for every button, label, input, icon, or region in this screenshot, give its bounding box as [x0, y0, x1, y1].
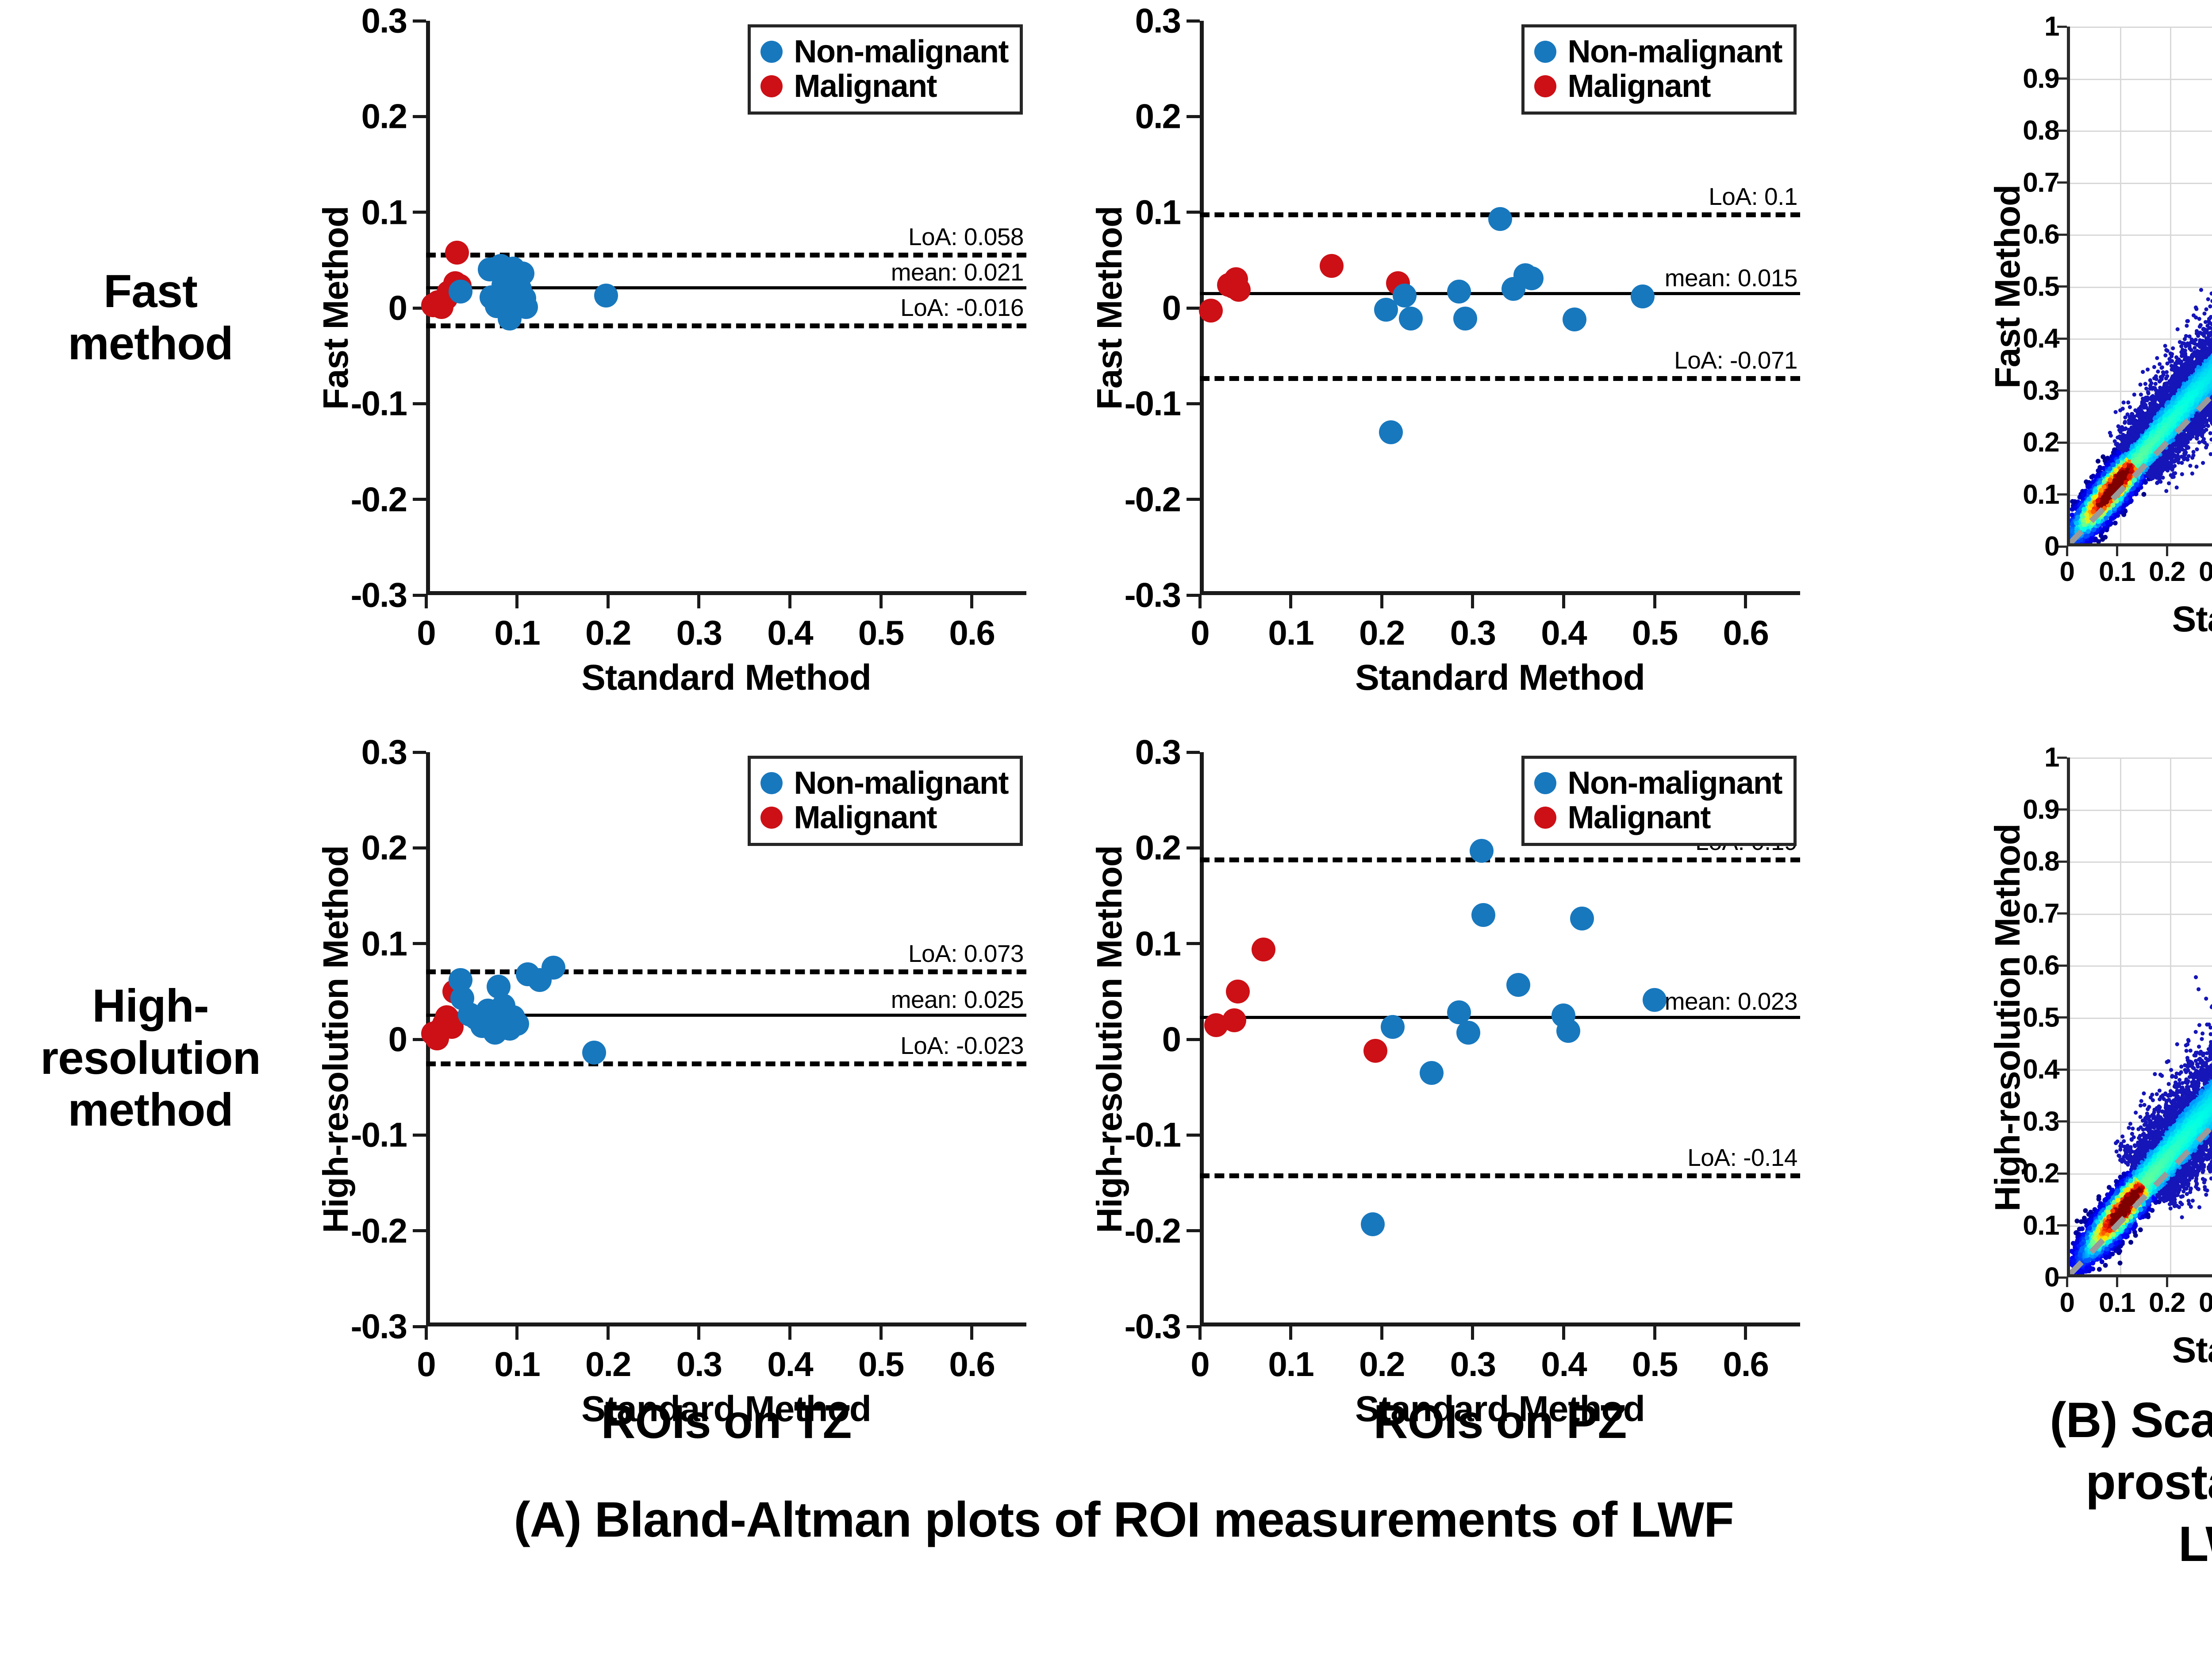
bland-altman-plot-hr-pz: -0.3-0.2-0.100.10.20.300.10.20.30.40.50.…: [1200, 752, 1800, 1326]
y-tick-label: 0.2: [2023, 1158, 2059, 1189]
y-tick: [1187, 751, 1200, 754]
y-axis-title: High-resolution Method: [315, 846, 356, 1233]
loa-lower-annotation: LoA: -0.071: [1674, 346, 1797, 374]
y-tick-label: 1: [2044, 742, 2059, 773]
x-axis-title: Standard Method: [581, 657, 871, 699]
loa-upper-annotation: LoA: 0.058: [908, 223, 1024, 251]
y-tick-label: 0.9: [2023, 63, 2059, 94]
legend-item[interactable]: Malignant: [760, 800, 1008, 835]
legend-label: Non-malignant: [1568, 34, 1782, 70]
x-tick-label: 0: [1190, 1344, 1209, 1384]
y-tick-label: 0: [1162, 288, 1180, 328]
x-tick-label: 0.3: [676, 613, 722, 653]
loa-upper-line: [426, 253, 1026, 258]
y-tick-label: 0.6: [2023, 219, 2059, 250]
x-axis-title: Standard Method: [2172, 599, 2212, 640]
caption-panel-b-line1: (B) Scatter plots of all: [1955, 1389, 2212, 1451]
y-tick: [1187, 498, 1200, 501]
row-label-fast-line1: Fast: [9, 265, 292, 318]
x-tick: [879, 595, 883, 608]
x-tick: [607, 595, 610, 608]
y-tick-label: 1: [2044, 11, 2059, 42]
data-point: [1470, 839, 1494, 863]
y-tick-label: 0.1: [361, 192, 407, 232]
bland-altman-plot-hr-tz: -0.3-0.2-0.100.10.20.300.10.20.30.40.50.…: [426, 752, 1026, 1326]
caption-rois-on-pz: ROIs on PZ: [1200, 1394, 1800, 1449]
data-point: [1556, 1019, 1580, 1043]
x-tick: [788, 595, 791, 608]
y-tick: [1187, 402, 1200, 405]
y-tick-label: 0.3: [1135, 1, 1180, 41]
bland-altman-plot-fast-tz: -0.3-0.2-0.100.10.20.300.10.20.30.40.50.…: [426, 21, 1026, 595]
x-tick: [1471, 595, 1474, 608]
x-tick: [1380, 595, 1383, 608]
row-label-hr-line2: resolution: [9, 1032, 292, 1084]
y-tick-label: -0.2: [1125, 479, 1180, 519]
y-tick-label: -0.2: [351, 1211, 407, 1251]
x-tick: [1653, 595, 1656, 608]
data-point: [1447, 280, 1471, 304]
legend-marker-non_malignant: [760, 772, 783, 794]
y-tick-label: -0.2: [351, 479, 407, 519]
y-tick-label: 0.1: [2023, 479, 2059, 510]
data-point: [511, 261, 534, 285]
y-tick-label: -0.3: [351, 1307, 407, 1347]
y-tick-label: 0.2: [361, 828, 407, 868]
legend-label: Non-malignant: [794, 34, 1008, 70]
legend-label: Non-malignant: [1568, 765, 1782, 801]
x-tick: [515, 595, 518, 608]
data-point: [1506, 973, 1530, 997]
data-point: [582, 1041, 606, 1065]
y-tick-label: 0.1: [1135, 192, 1180, 232]
loa-lower-line: [1200, 376, 1800, 381]
y-tick: [1187, 1134, 1200, 1137]
x-tick: [2166, 1277, 2168, 1287]
x-tick-label: 0.2: [1359, 613, 1404, 653]
data-point: [1488, 207, 1512, 231]
x-tick-label: 0.3: [676, 1344, 722, 1384]
mean-annotation: mean: 0.021: [891, 258, 1024, 286]
x-tick-label: 0.2: [585, 613, 630, 653]
y-tick-label: 0.3: [2023, 375, 2059, 406]
data-point: [1381, 1015, 1405, 1039]
data-point: [449, 280, 472, 304]
row-label-fast-method: Fast method: [9, 265, 292, 369]
x-tick: [425, 595, 428, 608]
x-tick: [1289, 595, 1292, 608]
data-point: [1631, 284, 1655, 308]
legend-marker-non_malignant: [1534, 41, 1556, 63]
y-tick-label: -0.3: [351, 575, 407, 615]
y-tick-label: 0.2: [1135, 96, 1180, 137]
y-tick-label: -0.1: [351, 384, 407, 424]
x-tick: [2166, 546, 2168, 556]
data-point: [1643, 988, 1667, 1012]
y-tick: [1187, 1325, 1200, 1328]
y-tick-label: 0.2: [361, 96, 407, 137]
x-tick: [1562, 1326, 1565, 1340]
data-point: [1361, 1212, 1385, 1236]
data-point: [1363, 1039, 1387, 1063]
loa-upper-annotation: LoA: 0.1: [1709, 182, 1797, 211]
row-label-hr-line3: method: [9, 1084, 292, 1136]
y-tick-label: 0.3: [2023, 1106, 2059, 1137]
x-tick: [515, 1326, 518, 1340]
x-tick: [1744, 595, 1747, 608]
x-tick-label: 0: [2060, 1287, 2074, 1319]
y-tick: [1187, 594, 1200, 597]
y-tick: [413, 1325, 426, 1328]
y-tick-label: -0.3: [1125, 1307, 1180, 1347]
loa-lower-annotation: LoA: -0.14: [1687, 1143, 1797, 1172]
x-tick: [1744, 1326, 1747, 1340]
x-tick: [2066, 546, 2068, 556]
x-tick: [1198, 1326, 1202, 1340]
y-tick-label: 0.4: [2023, 1054, 2059, 1085]
data-point: [505, 1012, 529, 1036]
y-tick-label: 0.1: [2023, 1210, 2059, 1241]
y-tick: [413, 594, 426, 597]
y-tick-label: 0: [2044, 531, 2059, 562]
y-tick-label: 0.8: [2023, 115, 2059, 146]
x-tick: [425, 1326, 428, 1340]
y-tick: [413, 115, 426, 118]
y-axis-title: Fast Method: [315, 206, 356, 410]
y-tick: [1187, 1038, 1200, 1041]
x-tick: [970, 595, 973, 608]
y-tick-label: -0.3: [1125, 575, 1180, 615]
legend-marker-malignant: [760, 807, 783, 829]
y-tick-label: 0.8: [2023, 846, 2059, 877]
caption-panel-b-line2: prostate voxels on: [1955, 1451, 2212, 1513]
legend[interactable]: Non-malignant Malignant: [1521, 756, 1797, 846]
x-axis-title: Standard Method: [1355, 657, 1645, 699]
x-tick-label: 0.6: [949, 613, 994, 653]
x-tick-label: 0.3: [2199, 556, 2212, 588]
y-tick: [1187, 846, 1200, 850]
caption-rois-on-tz: ROIs on TZ: [426, 1394, 1026, 1449]
x-tick-label: 0.1: [494, 613, 539, 653]
loa-lower-annotation: LoA: -0.016: [900, 293, 1024, 322]
data-point: [1227, 278, 1251, 302]
y-tick: [413, 402, 426, 405]
data-point: [514, 295, 538, 319]
caption-panel-a: (A) Bland-Altman plots of ROI measuremen…: [336, 1491, 1911, 1548]
x-tick: [697, 1326, 700, 1340]
x-tick: [2116, 546, 2118, 556]
y-tick: [1187, 307, 1200, 310]
y-tick-label: 0.3: [361, 732, 407, 773]
legend-label: Malignant: [1568, 68, 1711, 104]
y-tick-label: 0.6: [2023, 950, 2059, 981]
x-tick: [1380, 1326, 1383, 1340]
y-tick-label: -0.1: [1125, 1115, 1180, 1155]
x-tick-label: 0.1: [1268, 1344, 1313, 1384]
y-tick-label: 0.5: [2023, 271, 2059, 302]
data-point: [1563, 308, 1586, 331]
legend-marker-malignant: [760, 75, 783, 97]
y-tick-label: 0.3: [1135, 732, 1180, 773]
legend[interactable]: Non-malignant Malignant: [748, 24, 1023, 115]
x-tick: [1198, 595, 1202, 608]
loa-lower-line: [1200, 1173, 1800, 1178]
x-tick-label: 0.1: [494, 1344, 539, 1384]
y-tick: [1187, 19, 1200, 23]
y-tick: [413, 942, 426, 945]
density-cloud: [2070, 27, 2212, 543]
mean-annotation: mean: 0.023: [1665, 987, 1797, 1015]
legend-item[interactable]: Non-malignant: [760, 35, 1008, 69]
x-tick-label: 0.4: [1541, 1344, 1586, 1384]
legend-label: Non-malignant: [794, 765, 1008, 801]
x-tick-label: 0.6: [1723, 613, 1768, 653]
y-tick-label: 0.5: [2023, 1002, 2059, 1033]
x-tick-label: 0.5: [1632, 613, 1677, 653]
x-tick-label: 0.3: [1450, 1344, 1495, 1384]
plot-area: [2067, 27, 2212, 546]
x-tick-label: 0.2: [585, 1344, 630, 1384]
y-tick: [413, 751, 426, 754]
data-point: [1453, 307, 1477, 331]
legend-marker-malignant: [1534, 75, 1556, 97]
data-point: [1252, 938, 1275, 961]
x-tick-label: 0.1: [2099, 1287, 2135, 1319]
y-tick: [413, 1134, 426, 1137]
x-tick-label: 0.6: [949, 1344, 994, 1384]
data-point: [1520, 266, 1544, 290]
mean-line: [1200, 292, 1800, 295]
x-tick-label: 0.1: [2099, 556, 2135, 588]
x-tick-label: 0.3: [2199, 1287, 2212, 1319]
legend[interactable]: Non-malignant Malignant: [1521, 24, 1797, 115]
data-point: [1420, 1061, 1444, 1085]
y-tick-label: 0: [388, 288, 407, 328]
y-axis-title: High-resolution Method: [1987, 824, 2028, 1211]
y-tick-label: 0: [388, 1019, 407, 1060]
loa-lower-line: [426, 1061, 1026, 1066]
y-axis-title: High-resolution Method: [1089, 846, 1130, 1233]
y-tick-label: 0.2: [1135, 828, 1180, 868]
x-tick: [1289, 1326, 1292, 1340]
density-scatter-plot-high-resolution: 00.10.20.30.40.50.60.70.80.9100.10.20.30…: [2067, 757, 2212, 1277]
x-tick-label: 0.3: [1450, 613, 1495, 653]
y-tick-label: -0.2: [1125, 1211, 1180, 1251]
x-tick: [607, 1326, 610, 1340]
data-point: [1226, 980, 1250, 1003]
data-point: [1320, 254, 1344, 278]
x-tick: [788, 1326, 791, 1340]
row-label-fast-line2: method: [9, 318, 292, 370]
legend-item[interactable]: Non-malignant: [1534, 766, 1782, 800]
y-tick: [413, 19, 426, 23]
x-tick: [2066, 1277, 2068, 1287]
plot-area: [2067, 757, 2212, 1277]
y-tick-label: 0: [2044, 1262, 2059, 1293]
y-tick-label: -0.1: [1125, 384, 1180, 424]
legend-marker-non_malignant: [1534, 772, 1556, 794]
y-tick: [1187, 115, 1200, 118]
density-cloud: [2070, 757, 2212, 1274]
y-tick-label: 0.1: [361, 923, 407, 964]
x-tick-label: 0.4: [1541, 613, 1586, 653]
bland-altman-plot-fast-pz: -0.3-0.2-0.100.10.20.300.10.20.30.40.50.…: [1200, 21, 1800, 595]
y-tick-label: -0.1: [351, 1115, 407, 1155]
x-tick-label: 0.4: [767, 613, 812, 653]
y-tick-label: 0: [1162, 1019, 1180, 1060]
loa-lower-annotation: LoA: -0.023: [900, 1031, 1024, 1060]
y-tick: [413, 498, 426, 501]
data-point: [1393, 284, 1417, 308]
row-label-high-resolution-method: High- resolution method: [9, 980, 292, 1136]
legend-label: Malignant: [794, 68, 937, 104]
legend[interactable]: Non-malignant Malignant: [748, 756, 1023, 846]
x-tick-label: 0.2: [1359, 1344, 1404, 1384]
mean-line: [1200, 1016, 1800, 1019]
caption-panel-b: (B) Scatter plots of all prostate voxels…: [1955, 1389, 2212, 1575]
y-tick: [1187, 942, 1200, 945]
legend-label: Malignant: [794, 800, 937, 836]
legend-label: Malignant: [1568, 800, 1711, 836]
legend-item[interactable]: Malignant: [1534, 69, 1782, 104]
y-tick-label: 0.7: [2023, 167, 2059, 198]
x-tick: [1471, 1326, 1474, 1340]
x-tick-label: 0: [1190, 613, 1209, 653]
y-tick-label: 0.2: [2023, 427, 2059, 458]
x-tick-label: 0.4: [767, 1344, 812, 1384]
y-axis-title: Fast Method: [1987, 185, 2028, 388]
mean-annotation: mean: 0.015: [1665, 264, 1797, 292]
y-tick: [413, 211, 426, 214]
x-tick-label: 0.2: [2149, 1287, 2185, 1319]
mean-annotation: mean: 0.025: [891, 985, 1024, 1014]
x-tick-label: 0: [417, 1344, 435, 1384]
x-tick-label: 0: [417, 613, 435, 653]
row-label-hr-line1: High-: [9, 980, 292, 1032]
loa-upper-line: [1200, 857, 1800, 862]
data-point: [1379, 420, 1403, 444]
legend-marker-non_malignant: [760, 41, 783, 63]
x-axis-title: Standard Method: [2172, 1330, 2212, 1371]
data-point: [1471, 903, 1495, 927]
legend-marker-malignant: [1534, 807, 1556, 829]
x-tick-label: 0: [2060, 556, 2074, 588]
y-tick-label: 0.1: [1135, 923, 1180, 964]
x-tick: [970, 1326, 973, 1340]
x-tick-label: 0.5: [858, 1344, 903, 1384]
data-point: [1199, 299, 1223, 323]
y-tick-label: 0.7: [2023, 898, 2059, 929]
x-tick-label: 0.5: [858, 613, 903, 653]
data-point: [445, 241, 469, 265]
x-tick-label: 0.5: [1632, 1344, 1677, 1384]
density-scatter-plot-fast: 00.10.20.30.40.50.60.70.80.9100.10.20.30…: [2067, 27, 2212, 546]
data-point: [1456, 1021, 1480, 1045]
y-tick-label: 0.3: [361, 1, 407, 41]
y-tick-label: 0.9: [2023, 794, 2059, 825]
x-tick: [879, 1326, 883, 1340]
legend-item[interactable]: Malignant: [1534, 800, 1782, 835]
x-tick: [1562, 595, 1565, 608]
y-axis-title: Fast Method: [1089, 206, 1130, 410]
legend-item[interactable]: Non-malignant: [760, 766, 1008, 800]
data-point: [1570, 907, 1594, 930]
data-point: [594, 284, 618, 308]
caption-panel-b-line3: LWF maps: [1955, 1513, 2212, 1575]
x-tick: [1653, 1326, 1656, 1340]
data-point: [541, 956, 565, 980]
y-tick: [413, 1229, 426, 1232]
x-tick: [2116, 1277, 2118, 1287]
y-tick: [1187, 211, 1200, 214]
legend-item[interactable]: Malignant: [760, 69, 1008, 104]
x-tick-label: 0.1: [1268, 613, 1313, 653]
y-tick: [413, 846, 426, 850]
data-point: [1222, 1008, 1246, 1032]
x-tick: [697, 595, 700, 608]
x-tick-label: 0.2: [2149, 556, 2185, 588]
loa-upper-annotation: LoA: 0.073: [908, 939, 1024, 968]
data-point: [1399, 307, 1423, 331]
y-tick-label: 0.4: [2023, 323, 2059, 354]
legend-item[interactable]: Non-malignant: [1534, 35, 1782, 69]
y-tick: [1187, 1229, 1200, 1232]
x-tick-label: 0.6: [1723, 1344, 1768, 1384]
